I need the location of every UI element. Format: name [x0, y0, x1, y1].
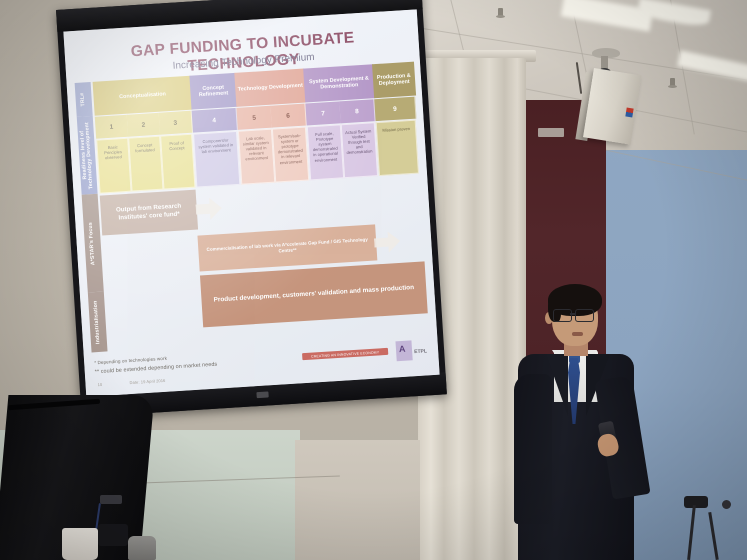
trl-number-7: 7 [305, 101, 341, 125]
trl-number-6: 6 [270, 104, 306, 128]
eyeglasses-bridge [570, 313, 576, 315]
trl-chart: TRL# Readiness level of Technology Devel… [75, 62, 431, 353]
projection-screen: GAP FUNDING TO INCUBATE TECHNOLOGY Incre… [56, 0, 448, 429]
trl-desc-5: Lab scale, similar system validated in r… [238, 129, 275, 185]
logo-mark: A [399, 344, 406, 354]
equipment-port[interactable] [100, 495, 122, 504]
trl-number-3: 3 [159, 111, 193, 135]
trl-number-5: 5 [237, 106, 273, 130]
lower-wall-panel [295, 440, 420, 560]
slide-date: Date: 19 April 2016 [129, 378, 165, 385]
speaker-badge-icon [625, 108, 633, 118]
phase-production-deployment: Production & Deployment [372, 62, 416, 99]
trl-desc-8: Actual System Verified through test and … [341, 122, 378, 178]
grey-object [128, 536, 156, 560]
phase-technology-development: Technology Development [234, 69, 306, 107]
arrow-right-icon-core [195, 197, 222, 221]
logo-text: ETPL [414, 348, 427, 355]
phase-conceptualisation: Conceptualisation [93, 76, 193, 116]
footnote-1: * Depending on technologies work [94, 356, 167, 366]
band-gap-fund: Commercialisation of lab work via A*ccel… [197, 224, 377, 271]
trl-number-1: 1 [95, 115, 129, 139]
tripod-knob[interactable] [722, 500, 731, 509]
trl-desc-1: Basic Principles observed [96, 138, 131, 194]
presenter [512, 282, 662, 560]
trl-number-4: 4 [192, 108, 238, 133]
phase-concept-refinement: Concept Refinement [189, 73, 237, 110]
band-product-development: Product development, customers' validati… [200, 261, 428, 327]
slide-banner: CREATING AN INNOVATIVE ECONOMY [302, 348, 388, 360]
room-scene: GAP FUNDING TO INCUBATE TECHNOLOGY Incre… [0, 0, 747, 560]
trl-desc-9: Mission proven [376, 120, 419, 176]
dark-object [98, 524, 128, 546]
row-label-industrialisation: Industrialisation [88, 292, 108, 353]
arm-left [514, 374, 552, 524]
white-mug [62, 528, 98, 560]
slide-content: GAP FUNDING TO INCUBATE TECHNOLOGY Incre… [63, 9, 439, 397]
screen-pull-handle[interactable] [256, 391, 268, 398]
trl-number-9: 9 [374, 97, 416, 122]
trl-number-8: 8 [339, 99, 375, 123]
tripod-head [684, 496, 708, 508]
door-plate [538, 128, 564, 137]
trl-desc-6: System/sub-system or prototype demonstra… [272, 127, 309, 183]
trl-desc-4: Component/or system validated in lab env… [193, 131, 240, 188]
eyeglasses-icon [553, 309, 597, 320]
trl-desc-2: Concept formulated [128, 136, 163, 192]
mouth [572, 332, 583, 336]
screen-surface: GAP FUNDING TO INCUBATE TECHNOLOGY Incre… [63, 9, 439, 397]
row-label-trl: TRL# [75, 82, 93, 117]
phase-system-development: System Development & Demonstration [303, 64, 375, 102]
slide-page-number: 10 [97, 382, 102, 387]
trl-number-2: 2 [127, 113, 161, 137]
slide-logo: A ETPL [395, 339, 426, 363]
band-core-fund: Output from Research Institutes' core fu… [100, 190, 198, 236]
arrow-right-icon-gap [374, 231, 401, 254]
trl-desc-7: Full scale, Prototype system demonstrate… [307, 124, 344, 180]
trl-desc-3: Proof of Concept [160, 134, 195, 190]
